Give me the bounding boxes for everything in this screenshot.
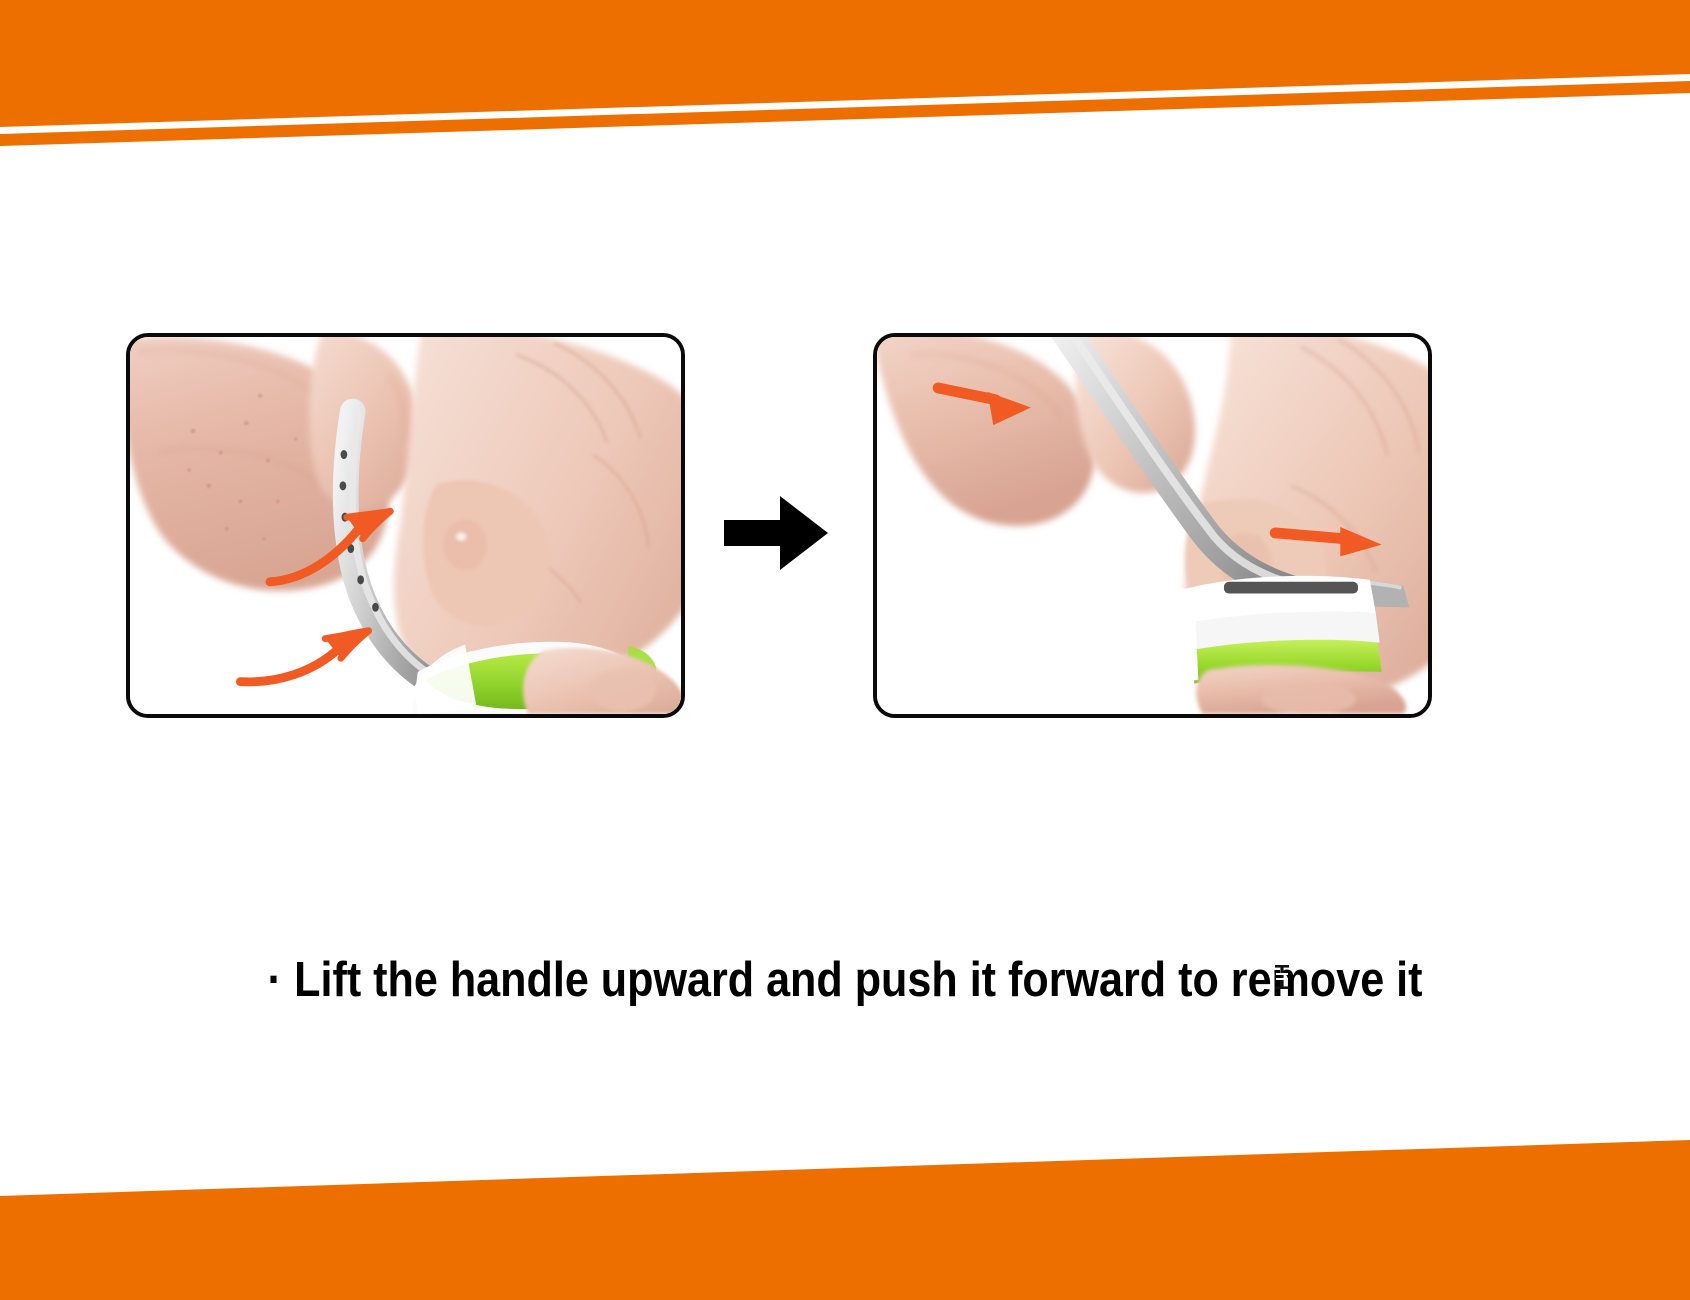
step-transition-arrow — [722, 492, 830, 574]
header-thin-stripe — [0, 81, 1690, 146]
photo-panel-step-2[interactable] — [873, 333, 1432, 718]
header-main-band — [0, 0, 1690, 127]
caption-bullet: · — [267, 952, 281, 1008]
slide-canvas: ·Lift the handle upward and push it forw… — [0, 0, 1690, 1300]
instruction-caption: ·Lift the handle upward and push it forw… — [101, 952, 1588, 1008]
photo-panel-step-1[interactable] — [126, 333, 685, 718]
photo-step-lift-handle — [130, 337, 681, 714]
photo-step-push-forward — [877, 337, 1428, 714]
caption-text: Lift the handle upward and push it forwa… — [294, 953, 1422, 1007]
footer-band — [0, 1140, 1690, 1300]
